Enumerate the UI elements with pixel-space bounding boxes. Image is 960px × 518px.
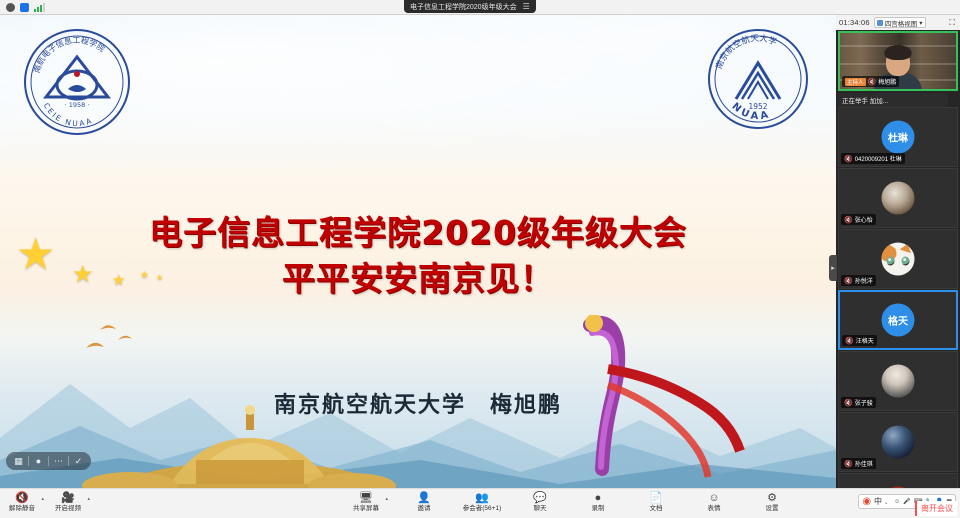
hamburger-menu-icon[interactable]: ☰: [523, 2, 530, 11]
active-speaker-tile[interactable]: 主持人 🔇 梅旭鹏: [838, 31, 958, 91]
record-label: 录制: [592, 505, 605, 513]
ceie-nuaa-logo: 南航电子信息工程学院 CEIE NUAA · 1958 ·: [22, 27, 132, 137]
fullscreen-icon[interactable]: ⛶: [949, 18, 957, 28]
meeting-timer: 01:34:06: [839, 18, 870, 27]
invite-person-icon: 👤: [417, 490, 431, 505]
participant-tile-4[interactable]: 格天 🔇 汪格天: [838, 290, 958, 350]
emoji-button[interactable]: ☺ 表情: [696, 490, 732, 513]
slide-subtitle: 南京航空航天大学 梅旭鹏: [0, 387, 836, 419]
start-video-button[interactable]: 🎥 开启视频 ▴: [50, 490, 86, 513]
sogou-ime-icon[interactable]: ◉: [862, 496, 871, 507]
record-circle-icon: ●: [595, 490, 602, 505]
slide-title-line1: 电子信息工程学院2020级年级大会: [149, 213, 687, 252]
bottom-center-controls: 🖥 共享屏幕 ▴ 👤 邀请 👥 参会者(56+1) 💬 聊天 ● 录制 📄: [348, 490, 790, 513]
panel-top-bar: 01:34:06 四宫格视图 ▾ ⛶: [836, 15, 960, 30]
os-tray-icons: [0, 3, 44, 12]
chat-label: 聊天: [534, 505, 547, 513]
share-screen-button[interactable]: 🖥 共享屏幕 ▴: [348, 490, 384, 513]
info-icon[interactable]: [6, 3, 15, 12]
participant-name: 张子骏: [855, 398, 873, 407]
mic-muted-icon: 🔇: [844, 399, 853, 407]
participants-icon: 👥: [475, 490, 489, 505]
ppt-presenter-toolbar[interactable]: ▦ ● ⋯ ✓: [6, 452, 91, 470]
chevron-down-icon[interactable]: ▾: [919, 19, 922, 27]
shared-slide-area: ★ ★ ★ ★ ★ 南航电子信息工程学院 CEIE NUAA · 1958 ·: [0, 15, 836, 488]
participant-name-chip: 🔇 张子骏: [841, 397, 876, 408]
host-badge: 主持人: [845, 78, 866, 86]
camera-off-icon: 🎥: [61, 490, 75, 505]
avatar: [882, 426, 915, 459]
divider: [48, 456, 49, 466]
mic-muted-icon: 🔇: [15, 490, 29, 505]
avatar: [882, 365, 915, 398]
speaker-name: 梅旭鹏: [878, 77, 896, 86]
participants-label: 参会者(56+1): [463, 505, 501, 513]
participant-tile-7[interactable]: [838, 473, 958, 488]
raise-hand-tooltip: 正在举手 加加...: [838, 93, 948, 107]
invite-button[interactable]: 👤 邀请: [406, 490, 442, 513]
document-icon: 📄: [649, 490, 663, 505]
mic-muted-icon: 🔇: [845, 337, 854, 345]
emoji-icon[interactable]: ☺: [894, 499, 900, 505]
participant-name-chip: 🔇 汪格天: [842, 335, 877, 346]
panel-collapse-handle[interactable]: ▸: [829, 255, 837, 281]
participant-tile-3[interactable]: 🔇 孙悦洋: [838, 229, 958, 289]
unmute-button[interactable]: 🔇 解除静音 ▴: [4, 490, 40, 513]
chat-button[interactable]: 💬 聊天: [522, 490, 558, 513]
chevron-up-icon[interactable]: ▴: [87, 496, 90, 502]
mic-muted-icon: 🔇: [844, 277, 853, 285]
gear-icon: ⚙: [767, 490, 777, 505]
participant-name-chip: 🔇 0420009201 杜琳: [841, 153, 905, 164]
mic-muted-icon: 🔇: [844, 216, 853, 224]
svg-text:· 1958 ·: · 1958 ·: [65, 101, 90, 109]
participants-button[interactable]: 👥 参会者(56+1): [464, 490, 500, 513]
participant-name: 孙佳琪: [855, 459, 873, 468]
slide-title-line2: 平平安安南京见！: [0, 256, 836, 302]
bottom-left-controls: 🔇 解除静音 ▴ 🎥 开启视频 ▴: [4, 490, 86, 513]
chat-bubble-icon: 💬: [533, 490, 547, 505]
meeting-title-text: 电子信息工程学院2020级年级大会: [410, 2, 517, 12]
laser-pointer-icon[interactable]: ✓: [70, 453, 87, 469]
divider: [68, 456, 69, 466]
settings-button[interactable]: ⚙ 设置: [754, 490, 790, 513]
pen-icon[interactable]: ●: [30, 453, 47, 469]
slide-title: 电子信息工程学院2020级年级大会 平平安安南京见！: [0, 210, 836, 302]
view-mode-label: 四宫格视图: [885, 18, 918, 28]
chevron-up-icon[interactable]: ▴: [41, 496, 44, 502]
nuaa-logo: 南京航空航天大学 1952 NUAA: [706, 27, 810, 131]
participant-name: 0420009201 杜琳: [855, 154, 902, 163]
participant-list[interactable]: 杜琳 🔇 0420009201 杜琳 🔇 张心怡: [836, 93, 960, 488]
participants-side-panel: 01:34:06 四宫格视图 ▾ ⛶ 主持人 🔇 梅旭鹏: [836, 15, 960, 488]
leave-meeting-button[interactable]: 离开会议: [915, 501, 957, 516]
chevron-up-icon[interactable]: ▴: [385, 496, 388, 502]
grid-view-icon: [877, 20, 883, 26]
participant-name: 张心怡: [855, 215, 873, 224]
meeting-app-window: 电子信息工程学院2020级年级大会 ☰: [0, 0, 960, 518]
unmute-label: 解除静音: [9, 505, 35, 513]
grid-view-icon[interactable]: ▦: [10, 453, 27, 469]
avatar: 杜琳: [882, 121, 915, 154]
share-screen-label: 共享屏幕: [353, 505, 379, 513]
participant-tile-5[interactable]: 🔇 张子骏: [838, 351, 958, 411]
avatar: [882, 243, 915, 276]
mic-muted-icon: 🔇: [844, 460, 853, 468]
participant-name-chip: 🔇 孙悦洋: [841, 275, 876, 286]
document-label: 文档: [650, 505, 663, 513]
participant-tile-2[interactable]: 🔇 张心怡: [838, 168, 958, 228]
more-options-icon[interactable]: ⋯: [50, 453, 67, 469]
speaker-hair: [885, 45, 912, 60]
mic-muted-icon: 🔇: [844, 155, 853, 163]
avatar: 格天: [882, 304, 915, 337]
ime-mode-label[interactable]: 中: [874, 496, 882, 507]
participant-name: 孙悦洋: [855, 276, 873, 285]
settings-label: 设置: [766, 505, 779, 513]
avatar: [882, 182, 915, 215]
divider: [28, 456, 29, 466]
mic-muted-icon: 🔇: [868, 78, 877, 86]
punctuation-icon[interactable]: 、: [885, 497, 891, 506]
svg-text:1952: 1952: [748, 102, 767, 111]
participant-name: 汪格天: [856, 336, 874, 345]
speaker-name-chip: 主持人 🔇 梅旭鹏: [842, 76, 899, 87]
document-button[interactable]: 📄 文档: [638, 490, 674, 513]
record-button[interactable]: ● 录制: [580, 490, 616, 513]
participant-tile-6[interactable]: 🔇 孙佳琪: [838, 412, 958, 472]
start-video-label: 开启视频: [55, 505, 81, 513]
signal-bars-icon[interactable]: [34, 3, 44, 12]
meeting-title-pill[interactable]: 电子信息工程学院2020级年级大会 ☰: [404, 0, 536, 13]
svg-text:南京航空航天大学: 南京航空航天大学: [713, 33, 778, 71]
shield-icon[interactable]: [20, 3, 29, 12]
participant-tile-1[interactable]: 杜琳 🔇 0420009201 杜琳: [838, 107, 958, 167]
emoji-smile-icon: ☺: [708, 490, 719, 505]
meeting-bottom-toolbar: 🔇 解除静音 ▴ 🎥 开启视频 ▴ 🖥 共享屏幕 ▴ 👤 邀请 👥: [0, 488, 960, 518]
share-screen-icon: 🖥: [359, 490, 373, 505]
view-mode-select[interactable]: 四宫格视图 ▾: [874, 17, 926, 28]
emoji-label: 表情: [708, 505, 721, 513]
voice-icon[interactable]: 🎤: [903, 498, 910, 505]
invite-label: 邀请: [418, 505, 431, 513]
participant-name-chip: 🔇 张心怡: [841, 214, 876, 225]
participant-name-chip: 🔇 孙佳琪: [841, 458, 876, 469]
